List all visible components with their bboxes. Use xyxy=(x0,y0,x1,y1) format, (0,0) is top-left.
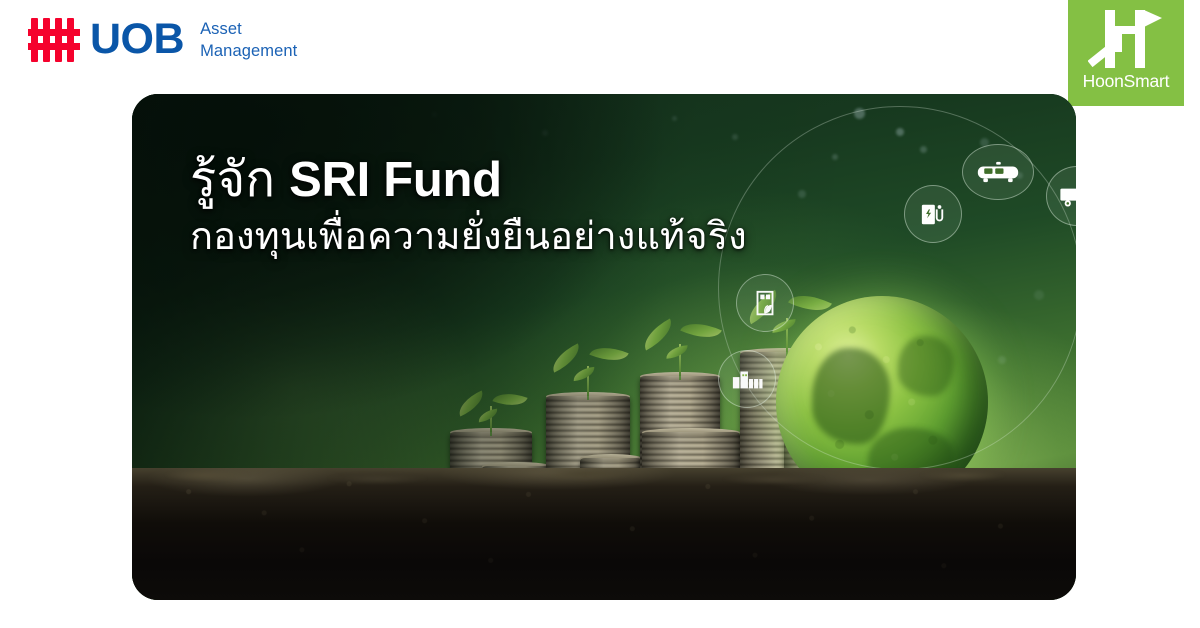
hero-headline-line-1: รู้จัก SRI Fund xyxy=(190,152,747,209)
headline-prefix: รู้จัก xyxy=(190,153,275,207)
hero-card[interactable]: รู้จัก SRI Fund กองทุนเพื่อความยั่งยืนอย… xyxy=(132,94,1076,600)
uob-tagline: Asset Management xyxy=(200,19,297,61)
hero-subheadline: กองทุนเพื่อความยั่งยืนอย่างแท้จริง xyxy=(190,213,747,262)
uob-wordmark: UOB xyxy=(90,18,184,61)
headline-emphasis: SRI Fund xyxy=(289,153,502,207)
hero-headline-block: รู้จัก SRI Fund กองทุนเพื่อความยั่งยืนอย… xyxy=(190,152,747,262)
page-root: UOB Asset Management HoonSmart xyxy=(0,0,1200,628)
hoonsmart-label: HoonSmart xyxy=(1083,73,1170,91)
hoonsmart-logo[interactable]: HoonSmart xyxy=(1068,0,1184,106)
soil-bed xyxy=(132,468,1076,600)
hoonsmart-h-arrow-icon xyxy=(1088,8,1164,70)
uob-asset-management-logo[interactable]: UOB Asset Management xyxy=(30,14,297,66)
uob-tagline-line-1: Asset xyxy=(200,19,297,40)
uob-tally-mark-icon xyxy=(30,18,78,62)
uob-tagline-line-2: Management xyxy=(200,41,297,62)
